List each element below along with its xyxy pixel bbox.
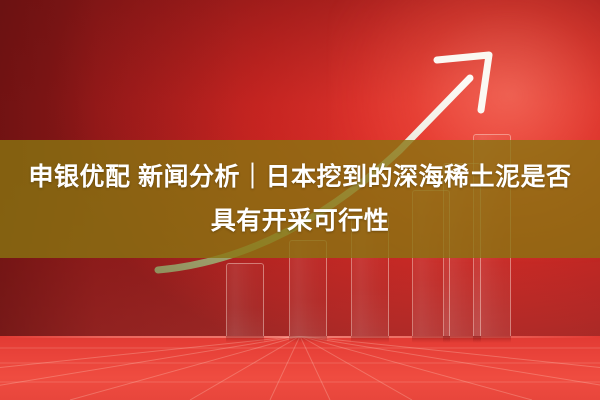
headline-line-2: 具有开采可行性 bbox=[211, 199, 390, 243]
headline-band: 申银优配 新闻分析｜日本挖到的深海稀土泥是否 具有开采可行性 bbox=[0, 140, 600, 258]
headline-line-1: 申银优配 新闻分析｜日本挖到的深海稀土泥是否 bbox=[29, 155, 572, 199]
promo-banner-image: 申银优配 新闻分析｜日本挖到的深海稀土泥是否 具有开采可行性 bbox=[0, 0, 600, 400]
